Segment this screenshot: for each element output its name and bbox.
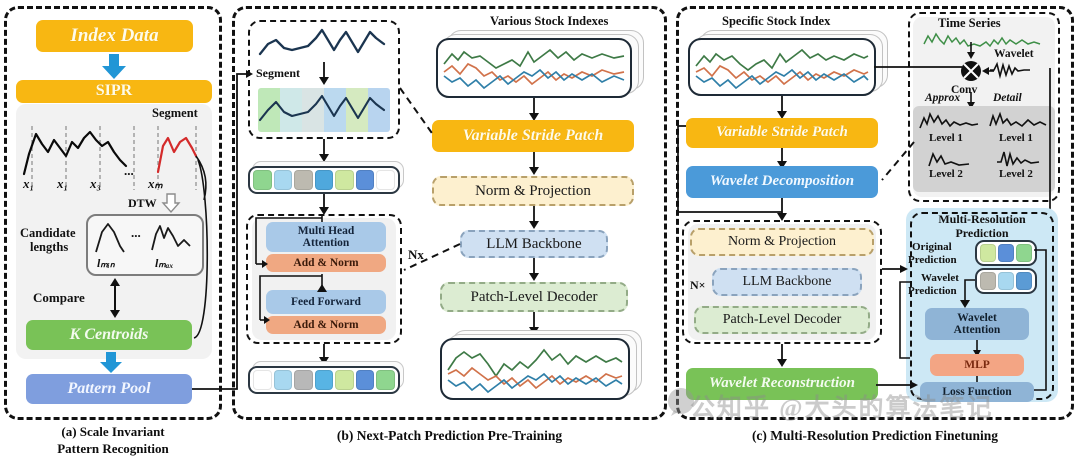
patch-cell-3 (315, 370, 334, 390)
series-label-x1a: x₁ (23, 176, 34, 192)
dashed-link-wavelet-to-levels (880, 140, 916, 184)
pattern-pool-label: Pattern Pool (67, 381, 150, 398)
lmin-label: lₘᵢₙ (97, 256, 115, 271)
patch-cell-2 (294, 370, 313, 390)
watermark-logo-icon (666, 386, 696, 416)
link-card-to-conv (874, 60, 970, 74)
loss-function-box[interactable]: Loss Function (920, 382, 1034, 402)
pattern-pool-box[interactable]: Pattern Pool (26, 374, 192, 404)
compare-label: Compare (33, 290, 85, 306)
approx-level2-label: Level 2 (929, 168, 963, 180)
detail-level1-label: Level 1 (999, 132, 1033, 144)
patch-cell-0 (253, 170, 272, 190)
segmented-band-series (258, 90, 390, 130)
patch-level-decoder-box-c[interactable]: Patch-Level Decoder (694, 306, 870, 334)
patch-cell-1 (998, 244, 1014, 262)
series-dots-a: ... (124, 163, 134, 179)
panel-a-caption-line1: (a) Scale Invariant (4, 424, 222, 440)
patch-cell-2 (294, 170, 313, 190)
patch-cell-0 (980, 272, 996, 290)
dashed-link-transformer-to-llm (400, 240, 462, 274)
wavelet-prediction-label-2: Prediction (908, 285, 957, 297)
dtw-arrow-icon (162, 194, 180, 213)
output-series-chart-b (446, 342, 624, 396)
specific-stock-index-label: Specific Stock Index (722, 14, 830, 29)
candidate-lengths-label-1: Candidate (20, 226, 76, 241)
patch-level-decoder-label-c: Patch-Level Decoder (723, 312, 842, 328)
norm-projection-box-c[interactable]: Norm & Projection (690, 228, 874, 256)
patch-strip-bottom[interactable] (248, 366, 400, 394)
variable-stride-patch-label-b: Variable Stride Patch (463, 128, 603, 145)
panel-b-caption: (b) Next-Patch Prediction Pre-Training (232, 428, 667, 444)
patch-cell-4 (335, 170, 354, 190)
arrow-llm-to-decoder-icon (528, 258, 540, 282)
approx-label: Approx (925, 92, 960, 104)
nx-label-c: N× (690, 278, 706, 293)
bypass-line-vsp-to-norm (672, 126, 790, 218)
arrow-specific-to-vsp-icon (776, 96, 788, 120)
norm-projection-box-b[interactable]: Norm & Projection (432, 176, 634, 206)
arrow-card-to-vsp-icon (528, 98, 540, 122)
candidate-ellipsis: ... (131, 225, 141, 241)
variable-stride-patch-box-b[interactable]: Variable Stride Patch (432, 120, 634, 152)
arrow-wavelet-to-norm-icon (776, 198, 788, 222)
arrow-wavpred-to-attention-icon (957, 276, 975, 310)
wavelet-squiggle-icon (990, 62, 1032, 78)
llm-backbone-label-b: LLM Backbone (486, 236, 581, 253)
segment-down-arrow-icon (318, 62, 330, 86)
patch-level-decoder-label-b: Patch-Level Decoder (470, 289, 597, 306)
panel-c-caption: (c) Multi-Resolution Prediction Finetuni… (676, 428, 1074, 444)
candidate-lengths-label-2: lengths (30, 240, 68, 255)
various-index-series-chart (442, 42, 626, 94)
time-series-title: Time Series (938, 16, 1001, 31)
index-data-label: Index Data (70, 26, 158, 46)
llm-backbone-box-c[interactable]: LLM Backbone (712, 268, 862, 296)
wavelet-prediction-label-1: Wavelet (921, 272, 959, 284)
arrow-vsp-to-norm-icon (528, 152, 540, 176)
arrow-series-to-conv-icon (965, 42, 977, 60)
llm-backbone-box-b[interactable]: LLM Backbone (460, 230, 608, 258)
patch-cell-4 (335, 370, 354, 390)
patch-cell-1 (998, 272, 1014, 290)
arrow-norm-to-llm-icon (528, 206, 540, 230)
line-wavelet-to-conv (980, 65, 994, 77)
series-label-xm: xₘ (148, 176, 163, 192)
patch-cell-5 (356, 170, 375, 190)
lmax-label: lₘₐₓ (155, 256, 173, 271)
approx-level1-chart (918, 110, 980, 132)
wavelet-label: Wavelet (994, 48, 1034, 60)
link-multires-to-left-bus (896, 278, 912, 364)
detail-level2-chart (995, 148, 1050, 168)
sipr-label: SIPR (96, 83, 132, 100)
dtw-label: DTW (128, 196, 157, 211)
arrow-index-to-sipr-icon (100, 54, 128, 80)
panel-a-caption-line2: Pattern Recognition (4, 441, 222, 457)
mlp-box[interactable]: MLP (930, 354, 1024, 376)
patch-cell-2 (1016, 272, 1032, 290)
patch-cell-1 (274, 170, 293, 190)
wavelet-prediction-strip[interactable] (975, 268, 1037, 294)
segment-raw-series-chart (258, 26, 390, 66)
multi-resolution-title-line1: Multi-Resolution (910, 212, 1054, 227)
patch-cell-2 (1016, 244, 1032, 262)
approx-level1-label: Level 1 (929, 132, 963, 144)
sipr-box[interactable]: SIPR (16, 80, 212, 103)
residual-connectors (250, 216, 390, 342)
detail-label: Detail (993, 92, 1022, 104)
loss-function-label: Loss Function (942, 386, 1011, 398)
wavelet-reconstruction-box[interactable]: Wavelet Reconstruction (686, 368, 878, 400)
original-prediction-label-1: Original (912, 241, 952, 253)
series-label-x1b: x₁ (57, 176, 68, 192)
segmented-series-chart (18, 122, 210, 192)
link-reconstruction-to-loss (876, 378, 924, 394)
series-label-x3: x₃ (90, 176, 101, 192)
arrow-centroids-to-pool-icon (98, 352, 124, 374)
patch-cell-6 (376, 370, 395, 390)
llm-backbone-label-c: LLM Backbone (742, 274, 831, 290)
patch-strip-top[interactable] (248, 166, 400, 194)
approx-level2-chart (925, 148, 980, 168)
dashed-link-segment-to-vsp (398, 86, 438, 140)
patch-cell-5 (356, 370, 375, 390)
patch-cell-0 (980, 244, 996, 262)
skip-connection-orig-to-loss (1032, 248, 1054, 394)
patch-cell-1 (274, 370, 293, 390)
original-prediction-label-2: Prediction (908, 254, 957, 266)
k-centroids-label: K Centroids (70, 327, 149, 344)
various-stock-indexes-label: Various Stock Indexes (490, 14, 608, 29)
link-backbone-to-multires (882, 262, 912, 278)
patch-level-decoder-box-b[interactable]: Patch-Level Decoder (440, 282, 628, 312)
multi-resolution-title-line2: Prediction (910, 226, 1054, 241)
arrow-strip-to-transformer-icon (318, 194, 330, 216)
compare-double-arrow-icon (108, 278, 122, 318)
wavelet-attention-label: Wavelet Attention (954, 312, 1001, 336)
mlp-label: MLP (964, 359, 990, 371)
original-prediction-strip[interactable] (975, 240, 1037, 266)
norm-projection-label-b: Norm & Projection (475, 183, 591, 200)
wavelet-attention-box[interactable]: Wavelet Attention (925, 308, 1029, 340)
candidate-shapes-icon (92, 220, 198, 256)
specific-index-series-chart (694, 42, 870, 92)
wavelet-reconstruction-label: Wavelet Reconstruction (709, 376, 855, 392)
k-centroids-box[interactable]: K Centroids (26, 320, 192, 350)
detail-level2-label: Level 2 (999, 168, 1033, 180)
norm-projection-label-c: Norm & Projection (728, 234, 836, 250)
patch-cell-3 (315, 170, 334, 190)
segment-label-b: Segment (256, 66, 300, 81)
arrow-segment-to-strip-icon (318, 139, 330, 163)
patch-cell-0 (253, 370, 272, 390)
patch-cell-6 (376, 170, 395, 190)
arrow-decoder-to-reconstruction-icon (776, 344, 788, 368)
detail-level1-chart (988, 110, 1050, 132)
index-data-box[interactable]: Index Data (36, 20, 193, 52)
